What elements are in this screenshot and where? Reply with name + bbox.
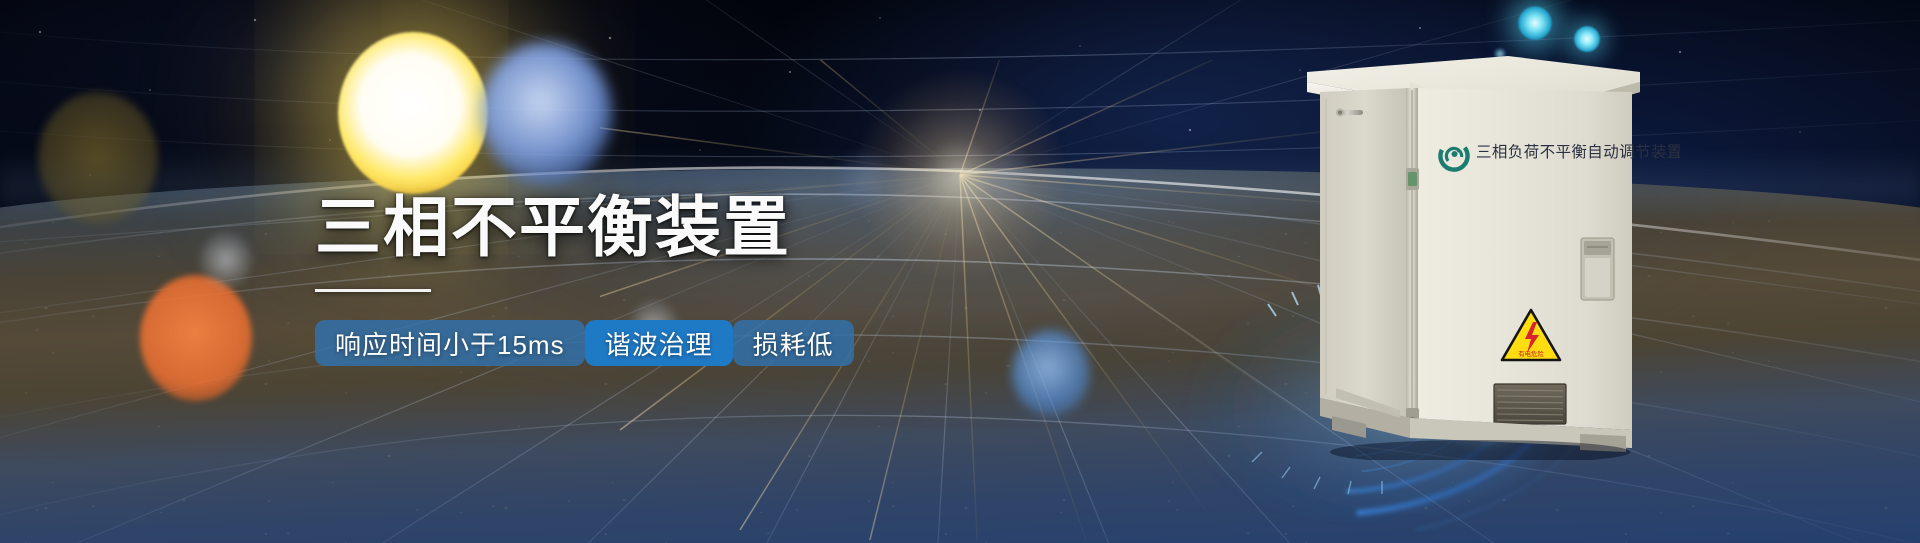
blue-bokeh-orb <box>480 42 612 184</box>
feature-pill-harmonic[interactable]: 谐波治理 <box>585 320 733 366</box>
door-recessed-handle <box>1581 238 1614 300</box>
title-divider <box>315 289 431 292</box>
page-title: 三相不平衡装置 <box>315 192 1095 263</box>
warning-sticker-text: 有电危险 <box>1518 349 1544 358</box>
cabinet-panel-label: 三相负荷不平衡自动调节装置 <box>1476 143 1680 161</box>
feature-pill-response-time[interactable]: 响应时间小于15ms <box>315 320 585 366</box>
olive-bokeh-orb <box>38 92 158 224</box>
feature-pill-low-loss[interactable]: 损耗低 <box>733 320 854 366</box>
grey-flare-a <box>200 232 252 288</box>
orange-bokeh-orb <box>140 275 252 401</box>
product-cabinet: 三相负荷不平衡自动调节装置 有电危险 <box>1280 20 1680 460</box>
banner-copy-block: 三相不平衡装置 响应时间小于15ms 谐波治理 损耗低 <box>315 192 1095 366</box>
promo-banner: 三相负荷不平衡自动调节装置 有电危险 <box>0 0 1920 543</box>
feature-pill-row: 响应时间小于15ms 谐波治理 损耗低 <box>315 320 1095 366</box>
white-bokeh-orb <box>338 32 488 194</box>
vent-grille <box>1494 384 1566 424</box>
